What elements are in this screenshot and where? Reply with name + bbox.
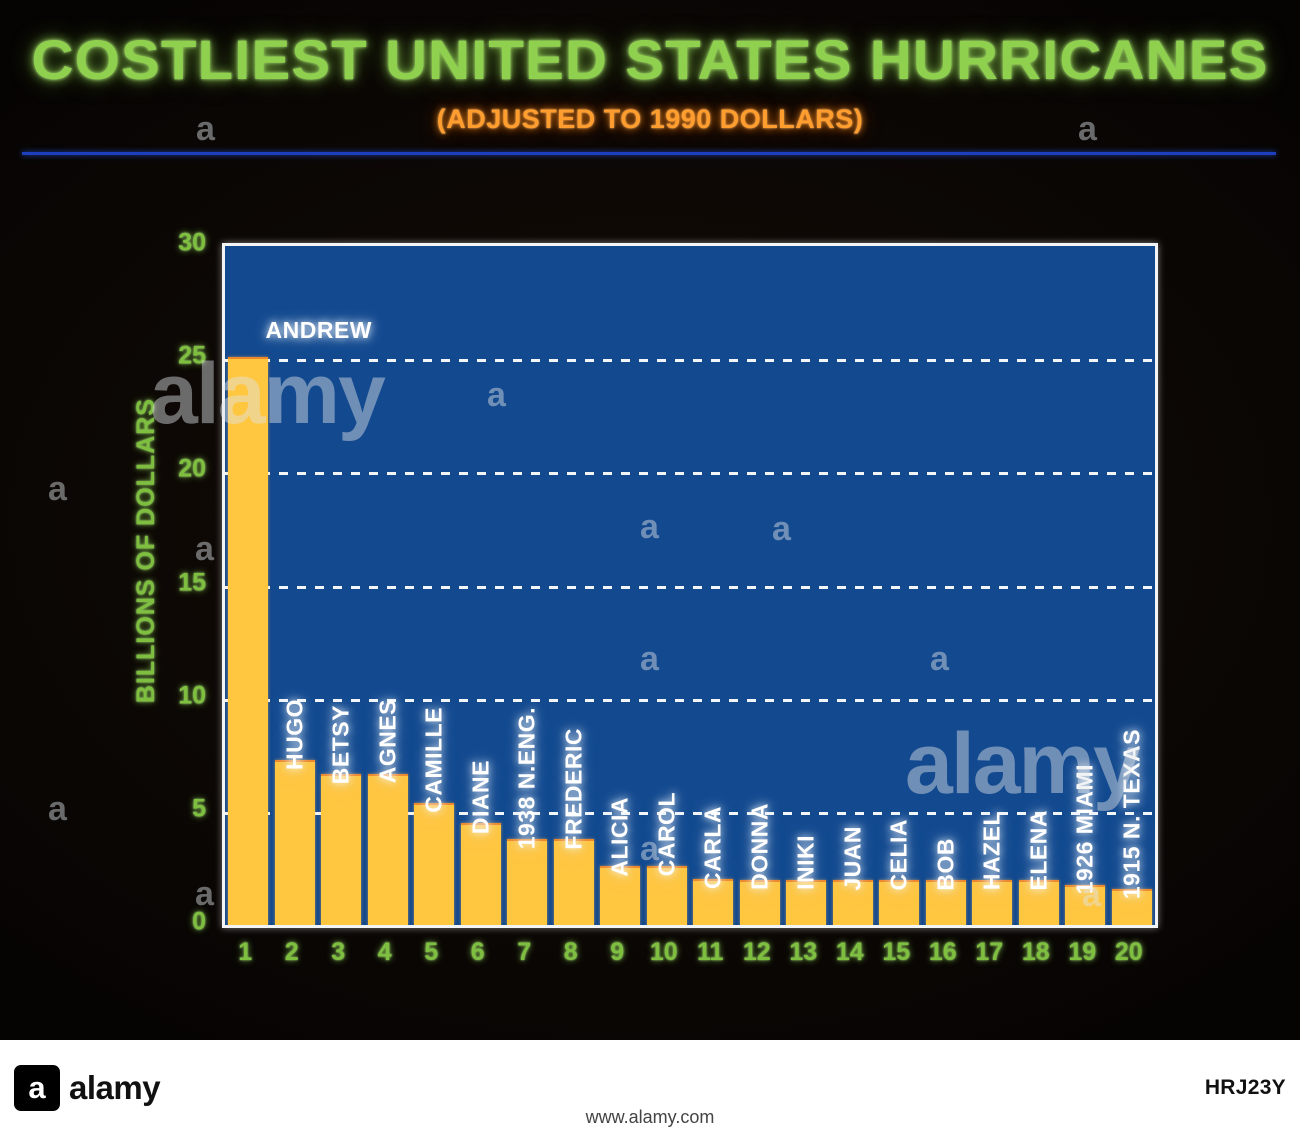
- x-tick-9: 9: [594, 938, 641, 972]
- bar-group: 1915 N. TEXAS: [1109, 246, 1156, 925]
- bar-label: HUGO: [281, 699, 308, 770]
- alamy-url[interactable]: www.alamy.com: [586, 1107, 715, 1128]
- x-tick-20: 20: [1106, 938, 1153, 972]
- x-tick-17: 17: [966, 938, 1013, 972]
- bar-group: ALICIA: [597, 246, 644, 925]
- y-tick-10: 10: [178, 681, 206, 710]
- bar-series: ANDREWHUGOBETSYAGNESCAMILLEDIANE1938 N.E…: [225, 246, 1155, 925]
- bar-label: CELIA: [886, 819, 913, 891]
- x-tick-11: 11: [687, 938, 734, 972]
- y-tick-5: 5: [192, 794, 206, 823]
- page-subtitle: (ADJUSTED TO 1990 DOLLARS): [0, 104, 1300, 135]
- bar-group: FREDERIC: [551, 246, 598, 925]
- bar-label: 1926 MIAMI: [1072, 764, 1099, 894]
- bar: [414, 803, 454, 925]
- bar-group: ELENA: [1016, 246, 1063, 925]
- bar-label: INIKI: [793, 835, 820, 890]
- bar-label: CAROL: [653, 792, 680, 876]
- bar-group: ANDREW: [225, 246, 272, 925]
- image-id: HRJ23Y: [1205, 1076, 1286, 1100]
- bar-group: HAZEL: [969, 246, 1016, 925]
- bar-group: 1926 MIAMI: [1062, 246, 1109, 925]
- chart-plot-area: ANDREWHUGOBETSYAGNESCAMILLEDIANE1938 N.E…: [222, 243, 1158, 928]
- bar-group: CAMILLE: [411, 246, 458, 925]
- x-tick-15: 15: [873, 938, 920, 972]
- bar: [368, 774, 408, 925]
- bar-label: BOB: [932, 838, 959, 891]
- alamy-footer: a alamy www.alamy.com HRJ23Y: [0, 1040, 1300, 1136]
- x-tick-8: 8: [548, 938, 595, 972]
- bar-label: CARLA: [700, 806, 727, 889]
- bar: [321, 774, 361, 925]
- bar-group: CELIA: [876, 246, 923, 925]
- bar: [554, 839, 594, 925]
- alamy-logo[interactable]: a alamy: [14, 1065, 160, 1111]
- x-tick-14: 14: [827, 938, 874, 972]
- x-tick-2: 2: [269, 938, 316, 972]
- bar-group: DONNA: [737, 246, 784, 925]
- bar-label: ALICIA: [607, 797, 634, 877]
- bar-group: BETSY: [318, 246, 365, 925]
- y-tick-15: 15: [178, 568, 206, 597]
- bar: [461, 823, 501, 925]
- title-block: COSTLIEST UNITED STATES HURRICANES (ADJU…: [0, 32, 1300, 135]
- bar-label: AGNES: [374, 699, 401, 783]
- x-tick-4: 4: [362, 938, 409, 972]
- bar-group: AGNES: [365, 246, 412, 925]
- bar-label: DONNA: [746, 803, 773, 890]
- x-tick-10: 10: [641, 938, 688, 972]
- bar-label: 1938 N.ENG.: [514, 707, 541, 849]
- bar-group: BOB: [923, 246, 970, 925]
- bar-group: JUAN: [830, 246, 877, 925]
- watermark-tile: a: [48, 470, 67, 509]
- alamy-logo-text: alamy: [69, 1069, 160, 1107]
- bar-group: DIANE: [458, 246, 505, 925]
- y-axis-ticks: 30 25 20 15 10 5 0: [150, 243, 206, 922]
- bar-label: 1915 N. TEXAS: [1118, 729, 1145, 899]
- bar: [507, 839, 547, 925]
- bar-label: FREDERIC: [560, 728, 587, 850]
- x-tick-12: 12: [734, 938, 781, 972]
- bar-label: HAZEL: [979, 811, 1006, 890]
- y-tick-25: 25: [178, 342, 206, 371]
- bar-group: HUGO: [272, 246, 319, 925]
- bar: [228, 357, 268, 925]
- bar-group: INIKI: [783, 246, 830, 925]
- slide-photo: COSTLIEST UNITED STATES HURRICANES (ADJU…: [0, 0, 1300, 1040]
- x-tick-7: 7: [501, 938, 548, 972]
- title-divider: [22, 152, 1276, 155]
- watermark-tile: a: [48, 790, 67, 829]
- x-tick-16: 16: [920, 938, 967, 972]
- screenshot-root: COSTLIEST UNITED STATES HURRICANES (ADJU…: [0, 0, 1300, 1136]
- page-title: COSTLIEST UNITED STATES HURRICANES: [0, 32, 1300, 88]
- bar: [275, 760, 315, 925]
- y-tick-0: 0: [192, 908, 206, 937]
- x-tick-18: 18: [1013, 938, 1060, 972]
- x-tick-5: 5: [408, 938, 455, 972]
- bar-label: ELENA: [1025, 810, 1052, 890]
- bar-group: CAROL: [644, 246, 691, 925]
- bar-group: CARLA: [690, 246, 737, 925]
- x-axis-ticks: 1234567891011121314151617181920: [222, 938, 1152, 972]
- bar-label: JUAN: [839, 826, 866, 891]
- x-tick-19: 19: [1059, 938, 1106, 972]
- bar-label: DIANE: [467, 760, 494, 834]
- x-tick-6: 6: [455, 938, 502, 972]
- y-tick-30: 30: [178, 229, 206, 258]
- alamy-logo-mark: a: [14, 1065, 60, 1111]
- x-tick-3: 3: [315, 938, 362, 972]
- bar-label: BETSY: [328, 705, 355, 784]
- bar-group: 1938 N.ENG.: [504, 246, 551, 925]
- bar-label: CAMILLE: [421, 707, 448, 813]
- x-tick-13: 13: [780, 938, 827, 972]
- y-tick-20: 20: [178, 455, 206, 484]
- x-tick-1: 1: [222, 938, 269, 972]
